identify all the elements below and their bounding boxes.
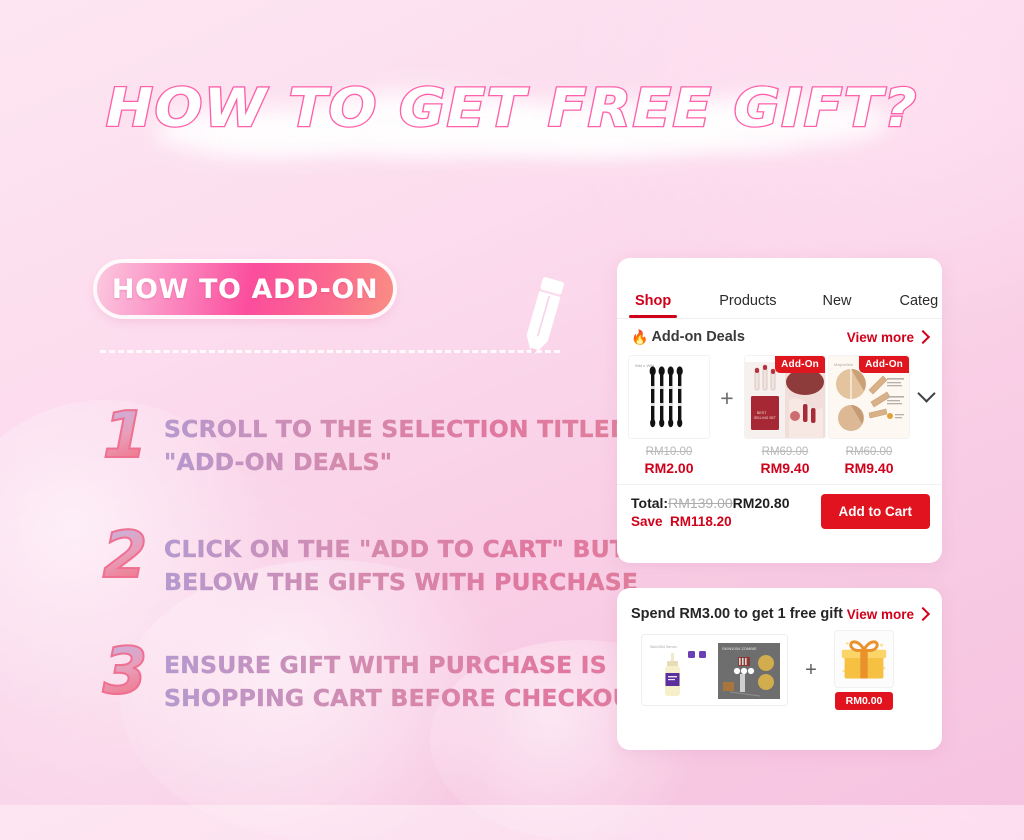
step-line: SCROLL TO THE SELECTION TITLED	[164, 413, 630, 446]
tab-new[interactable]: New	[822, 293, 851, 318]
svg-text:SKIN1004 ZOMBIE: SKIN1004 ZOMBIE	[722, 646, 757, 651]
add-to-cart-button[interactable]: Add to Cart	[821, 494, 931, 529]
product-item-lip-tint[interactable]: BEST SELLING SET	[743, 355, 827, 476]
step-item-2: 2 CLICK ON THE "ADD TO CART" BUTTON BELO…	[96, 524, 683, 599]
step-line: "ADD-ON DEALS"	[164, 446, 630, 479]
save-line: Save RM118.20	[631, 514, 789, 529]
add-on-badge: Add-On	[859, 356, 909, 373]
pencil-icon	[512, 272, 574, 364]
free-gift-item[interactable]: RM0.00	[834, 630, 894, 710]
svg-text:SELLING SET: SELLING SET	[754, 416, 776, 420]
flame-icon: 🔥	[631, 330, 648, 344]
chevron-right-icon	[916, 607, 930, 621]
add-on-deals-label: Add-on Deals	[651, 329, 744, 345]
free-gift-title: Spend RM3.00 to get 1 free gift	[631, 606, 843, 622]
view-more-label: View more	[847, 607, 914, 622]
step-number: 2	[96, 524, 154, 588]
product-price-discounted: RM2.00	[644, 460, 693, 476]
step-line: CLICK ON THE "ADD TO CART" BUTTON	[164, 533, 683, 566]
product-image: Wet n Wild	[628, 355, 710, 439]
product-price-discounted: RM9.40	[760, 460, 809, 476]
step-text: CLICK ON THE "ADD TO CART" BUTTON BELOW …	[164, 524, 683, 599]
product-item-applicators[interactable]: Wet n Wild	[627, 355, 711, 476]
add-on-deals-card: Shop Products New Categ 🔥 Add-on Deals V…	[617, 258, 942, 563]
svg-text:BEST: BEST	[757, 411, 767, 415]
save-amount: RM118.20	[670, 514, 732, 529]
product-price-original: RM69.00	[762, 446, 809, 458]
total-price-original: RM139.00	[668, 495, 733, 511]
product-item-contour-palette[interactable]: Maybelline	[827, 355, 911, 476]
total-line: Total:RM139.00RM20.80	[631, 495, 789, 511]
add-on-deals-header: 🔥 Add-on Deals View more	[617, 319, 942, 349]
product-price-original: RM60.00	[846, 446, 893, 458]
free-gift-body: Skin1004 Serum SKIN1004 ZOMBIE	[617, 622, 942, 710]
step-line: BELOW THE GIFTS WITH PURCHASE	[164, 566, 683, 599]
tab-products[interactable]: Products	[719, 293, 776, 318]
add-on-deals-title-group: 🔥 Add-on Deals	[631, 329, 745, 345]
tab-bar: Shop Products New Categ	[617, 272, 942, 319]
chevron-down-icon[interactable]	[917, 384, 935, 402]
step-text: SCROLL TO THE SELECTION TITLED "ADD-ON D…	[164, 404, 630, 479]
chevron-right-icon	[916, 330, 930, 344]
view-more-link-free-gift[interactable]: View more	[847, 607, 928, 622]
page-title: HOW TO GET FREE GIFT?	[106, 78, 918, 139]
tab-shop[interactable]: Shop	[635, 293, 671, 318]
add-on-badge: Add-On	[775, 356, 825, 373]
gift-box-image	[834, 630, 894, 688]
total-row: Total:RM139.00RM20.80 Save RM118.20 Add …	[617, 484, 942, 529]
save-label: Save	[631, 514, 663, 529]
how-to-add-on-badge: HOW TO ADD-ON	[97, 263, 393, 315]
free-gift-header: Spend RM3.00 to get 1 free gift View mor…	[617, 588, 942, 622]
product-row: Wet n Wild	[617, 349, 942, 476]
product-price-discounted: RM9.40	[844, 460, 893, 476]
step-number: 1	[96, 404, 154, 468]
product-image: Maybelline	[828, 355, 910, 439]
step-item-1: 1 SCROLL TO THE SELECTION TITLED "ADD-ON…	[96, 404, 630, 479]
dashed-divider	[100, 350, 560, 353]
plus-symbol: +	[788, 659, 834, 682]
gift-price-badge: RM0.00	[835, 692, 893, 710]
product-image: BEST SELLING SET	[744, 355, 826, 439]
view-more-link-deals[interactable]: View more	[847, 330, 928, 345]
total-label: Total:	[631, 495, 668, 511]
free-gift-product-images[interactable]: Skin1004 Serum SKIN1004 ZOMBIE	[641, 634, 788, 706]
how-to-add-on-label: HOW TO ADD-ON	[112, 274, 378, 305]
step-number: 3	[96, 640, 154, 704]
total-text-group: Total:RM139.00RM20.80 Save RM118.20	[631, 495, 789, 529]
plus-symbol: +	[711, 355, 743, 412]
svg-text:Skin1004 Serum: Skin1004 Serum	[650, 645, 677, 649]
view-more-label: View more	[847, 330, 914, 345]
product-price-original: RM10.00	[646, 446, 693, 458]
total-price-final: RM20.80	[733, 495, 790, 511]
gift-box-icon	[838, 634, 890, 684]
tab-categories[interactable]: Categ	[900, 293, 939, 318]
free-gift-card: Spend RM3.00 to get 1 free gift View mor…	[617, 588, 942, 750]
page-header: HOW TO GET FREE GIFT?	[0, 78, 1024, 150]
svg-text:Maybelline: Maybelline	[834, 362, 854, 367]
